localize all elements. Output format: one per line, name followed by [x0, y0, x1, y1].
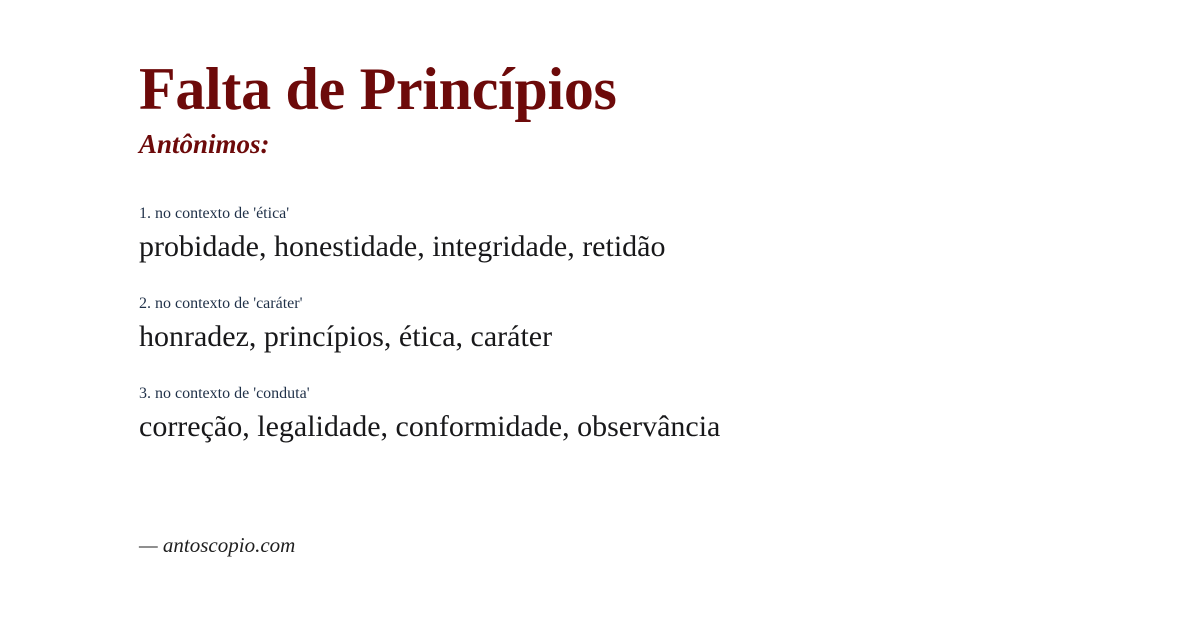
sense-words: correção, legalidade, conformidade, obse…: [139, 407, 1200, 446]
card-header: Falta de Princípios Antônimos:: [139, 0, 1200, 160]
sense-context-label: 1. no contexto de 'ética': [139, 204, 1200, 224]
card-footer: — antoscopio.com: [139, 533, 295, 558]
sense-list: 1. no contexto de 'ética' probidade, hon…: [139, 204, 1200, 446]
sense-context-label: 2. no contexto de 'caráter': [139, 294, 1200, 314]
sense-group: 1. no contexto de 'ética' probidade, hon…: [139, 204, 1200, 266]
sense-context-label: 3. no contexto de 'conduta': [139, 384, 1200, 404]
sense-group: 3. no contexto de 'conduta' correção, le…: [139, 384, 1200, 446]
antonyms-card: Falta de Princípios Antônimos: 1. no con…: [0, 0, 1200, 628]
section-label-antonyms: Antônimos:: [139, 128, 1200, 160]
sense-words: probidade, honestidade, integridade, ret…: [139, 227, 1200, 266]
sense-words: honradez, princípios, ética, caráter: [139, 317, 1200, 356]
source-attribution: — antoscopio.com: [139, 533, 295, 558]
page-title: Falta de Princípios: [139, 58, 1200, 122]
sense-group: 2. no contexto de 'caráter' honradez, pr…: [139, 294, 1200, 356]
